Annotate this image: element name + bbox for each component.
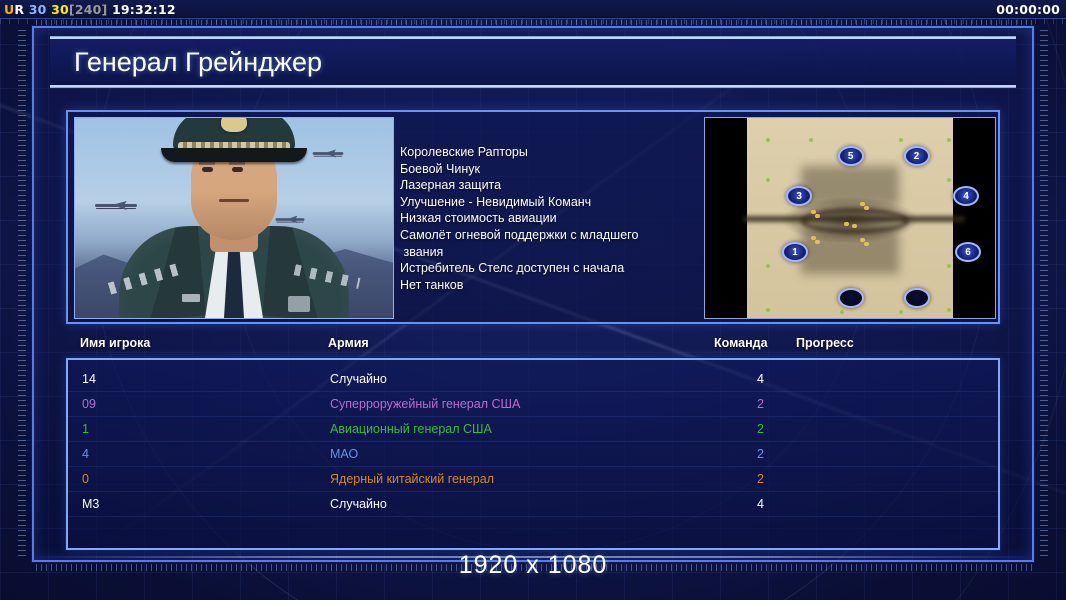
minimap-oil-derrick-icon: [844, 222, 849, 226]
minimap-terrain: 523416: [747, 118, 953, 318]
table-row[interactable]: 14Случайно4: [68, 366, 998, 391]
player-army: Случайно: [330, 372, 387, 386]
minimap-oil-derrick-icon: [852, 224, 857, 228]
player-army: МАО: [330, 447, 358, 461]
minimap-oil-derrick-icon: [815, 214, 820, 218]
us-insignia: [182, 294, 200, 302]
column-header-progress: Прогресс: [796, 336, 854, 350]
terrain-shade: [801, 166, 900, 206]
player-table: 14Случайно409Суперроружейный генерал США…: [66, 358, 1000, 550]
column-header-army: Армия: [328, 336, 369, 350]
eyebrow-right: [229, 162, 245, 165]
table-row[interactable]: 1Авиационный генерал США2: [68, 416, 998, 441]
minimap-supply-icon: [947, 264, 951, 268]
fps-value-max: [240]: [69, 2, 108, 17]
river-loop: [801, 208, 910, 234]
title-top-glow: [50, 37, 1016, 39]
minimap-start-position[interactable]: 3: [786, 186, 812, 206]
match-timer-wrap: 00:00:00: [996, 2, 1066, 17]
minimap-supply-icon: [766, 138, 770, 142]
player-name: 0: [82, 472, 89, 486]
start-position-label: 5: [848, 151, 854, 162]
fps-label-r: R: [14, 2, 24, 17]
player-progress-bar: [798, 398, 986, 409]
title-bottom-glow: [50, 85, 1016, 87]
game-screen: UR 30 30[240] 19:32:12 00:00:00 Генерал …: [0, 0, 1066, 600]
minimap-preview: 523416: [704, 117, 996, 319]
title-band: Генерал Грейнджер: [50, 36, 1016, 88]
status-bar: UR 30 30[240] 19:32:12 00:00:00: [0, 0, 1066, 19]
minimap-supply-icon: [899, 310, 903, 314]
minimap-supply-icon: [766, 264, 770, 268]
minimap-supply-icon: [947, 178, 951, 182]
player-name: M3: [82, 497, 99, 511]
fps-counter: UR 30 30[240] 19:32:12: [0, 2, 176, 17]
start-position-label: 4: [963, 191, 969, 202]
player-team: 4: [740, 372, 764, 386]
player-name: 09: [82, 397, 96, 411]
table-row[interactable]: 4МАО2: [68, 441, 998, 466]
start-position-label: 6: [965, 247, 971, 258]
minimap-start-position[interactable]: 5: [838, 146, 864, 166]
player-name: 14: [82, 372, 96, 386]
system-clock: 19:32:12: [112, 2, 176, 17]
player-team: 2: [740, 447, 764, 461]
player-name: 1: [82, 422, 89, 436]
eye-right: [232, 167, 243, 172]
match-timer: 00:00:00: [996, 2, 1060, 17]
minimap-supply-icon: [809, 138, 813, 142]
page-title: Генерал Грейнджер: [50, 47, 322, 78]
player-progress-bar: [798, 498, 986, 509]
player-table-header: Имя игрока Армия Команда Прогресс: [66, 336, 1000, 356]
cap-eagle-badge-icon: [221, 117, 247, 132]
minimap-supply-icon: [766, 308, 770, 312]
ruler-right: [1040, 30, 1048, 558]
ruler-left: [18, 30, 26, 558]
row-separator: [68, 516, 998, 517]
table-row[interactable]: M3Случайно4: [68, 491, 998, 516]
player-army: Суперроружейный генерал США: [330, 397, 520, 411]
player-team: 2: [740, 397, 764, 411]
player-team: 4: [740, 497, 764, 511]
column-header-name: Имя игрока: [80, 336, 150, 350]
start-position-label: 3: [796, 191, 802, 202]
minimap-start-position[interactable]: [904, 288, 930, 308]
minimap-supply-icon: [766, 178, 770, 182]
player-team: 2: [740, 422, 764, 436]
start-position-label: 1: [792, 247, 798, 258]
general-figure: [84, 146, 384, 318]
eyebrow-left: [199, 162, 215, 165]
minimap-supply-icon: [947, 138, 951, 142]
cap-brim: [161, 148, 307, 162]
general-info-panel: Королевские РапторыБоевой ЧинукЛазерная …: [66, 110, 1000, 324]
minimap-start-position[interactable]: 1: [782, 242, 808, 262]
eye-left: [202, 167, 213, 172]
start-position-label: 2: [914, 151, 920, 162]
player-progress-bar: [798, 448, 986, 459]
minimap-oil-derrick-icon: [815, 240, 820, 244]
table-row[interactable]: 09Суперроружейный генерал США2: [68, 391, 998, 416]
general-portrait: [74, 117, 394, 319]
fps-value-target: 30: [51, 2, 69, 17]
minimap-start-position[interactable]: [838, 288, 864, 308]
minimap-supply-icon: [840, 310, 844, 314]
player-army: Авиационный генерал США: [330, 422, 492, 436]
player-progress-bar: [798, 423, 986, 434]
mouth: [219, 199, 249, 202]
minimap-supply-icon: [947, 308, 951, 312]
table-row[interactable]: 0Ядерный китайский генерал2: [68, 466, 998, 491]
minimap-start-position[interactable]: 4: [953, 186, 979, 206]
player-army: Ядерный китайский генерал: [330, 472, 494, 486]
column-header-team: Команда: [714, 336, 768, 350]
fps-label-u: U: [4, 2, 14, 17]
minimap-supply-icon: [899, 138, 903, 142]
minimap-start-position[interactable]: 2: [904, 146, 930, 166]
player-progress-bar: [798, 373, 986, 384]
player-army: Случайно: [330, 497, 387, 511]
service-ribbon: [288, 296, 310, 312]
minimap-start-position[interactable]: 6: [955, 242, 981, 262]
resolution-label: 1920 x 1080: [0, 551, 1066, 580]
player-progress-bar: [798, 473, 986, 484]
player-name: 4: [82, 447, 89, 461]
player-team: 2: [740, 472, 764, 486]
fps-value-current: 30: [29, 2, 47, 17]
